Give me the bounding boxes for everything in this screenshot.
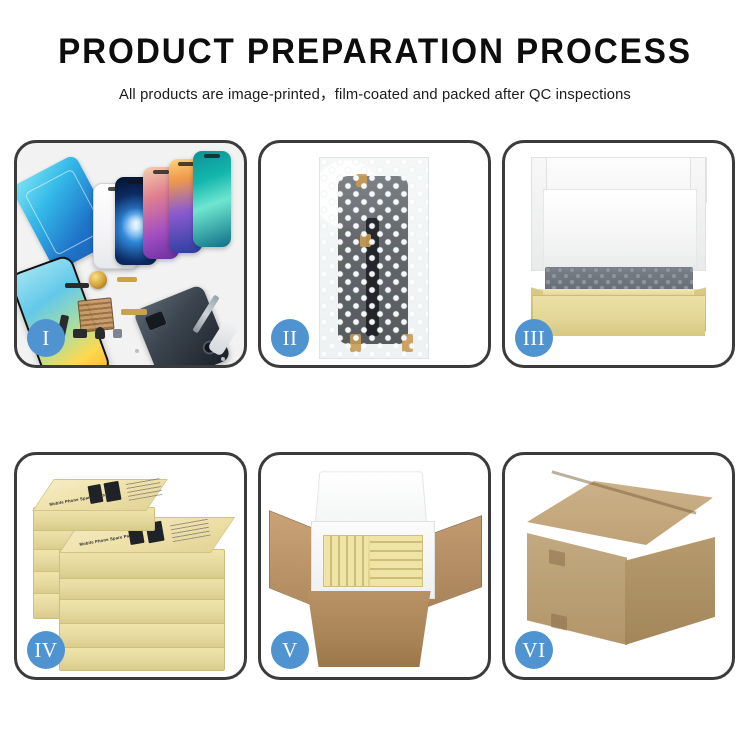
process-step-card-4: Mobile Phone Spare Parts Mobile Phone Sp… (14, 452, 247, 680)
top-box-front (59, 549, 225, 579)
step-badge-3: III (515, 319, 553, 357)
page-subtitle: All products are image-printed，film-coat… (11, 82, 739, 104)
step-badge-6: VI (515, 631, 553, 669)
camera-module-icon (113, 329, 122, 338)
process-step-card-2: II (258, 140, 491, 368)
stacked-box (59, 623, 225, 649)
process-step-card-3: III (502, 140, 735, 368)
carton-flap-right (428, 515, 482, 607)
carton-front-face (527, 533, 627, 645)
white-foam-sheet (543, 189, 697, 271)
gold-flex-cable-icon (121, 309, 147, 315)
carton-side-face (625, 537, 715, 645)
step-badge-4: IV (27, 631, 65, 669)
phone-screen-teal-icon (193, 151, 231, 247)
stacked-box (59, 599, 225, 625)
stacked-box (59, 647, 225, 671)
step-badge-2: II (271, 319, 309, 357)
step-badge-1: I (27, 319, 65, 357)
box-product-photo (103, 481, 121, 502)
screw-icon (221, 357, 225, 361)
product-preparation-infographic: PRODUCT PREPARATION PROCESS All products… (0, 0, 750, 750)
step-badge-5: V (271, 631, 309, 669)
screw-icon (135, 349, 139, 353)
small-module-icon (73, 329, 87, 338)
gold-connector-icon (117, 277, 137, 282)
copper-coil-icon (89, 271, 107, 289)
packed-boxes-row-horizontal (370, 536, 422, 586)
box-front-panel (533, 295, 705, 336)
process-step-card-1: I (14, 140, 247, 368)
carton-tape-patch (551, 613, 567, 630)
page-title: PRODUCT PREPARATION PROCESS (19, 34, 732, 69)
packed-boxes-row-vertical (324, 536, 368, 586)
process-step-card-5: V (258, 452, 491, 680)
header: PRODUCT PREPARATION PROCESS All products… (0, 0, 750, 104)
flex-cable-icon (65, 283, 89, 288)
speaker-module-icon (95, 327, 105, 339)
packed-boxes-group (323, 535, 423, 587)
carton-front-panel (299, 591, 439, 667)
process-steps-grid: I II (14, 140, 736, 680)
bubble-texture (320, 158, 428, 358)
process-step-card-6: VI (502, 452, 735, 680)
bubble-wrap-bag (319, 157, 429, 359)
